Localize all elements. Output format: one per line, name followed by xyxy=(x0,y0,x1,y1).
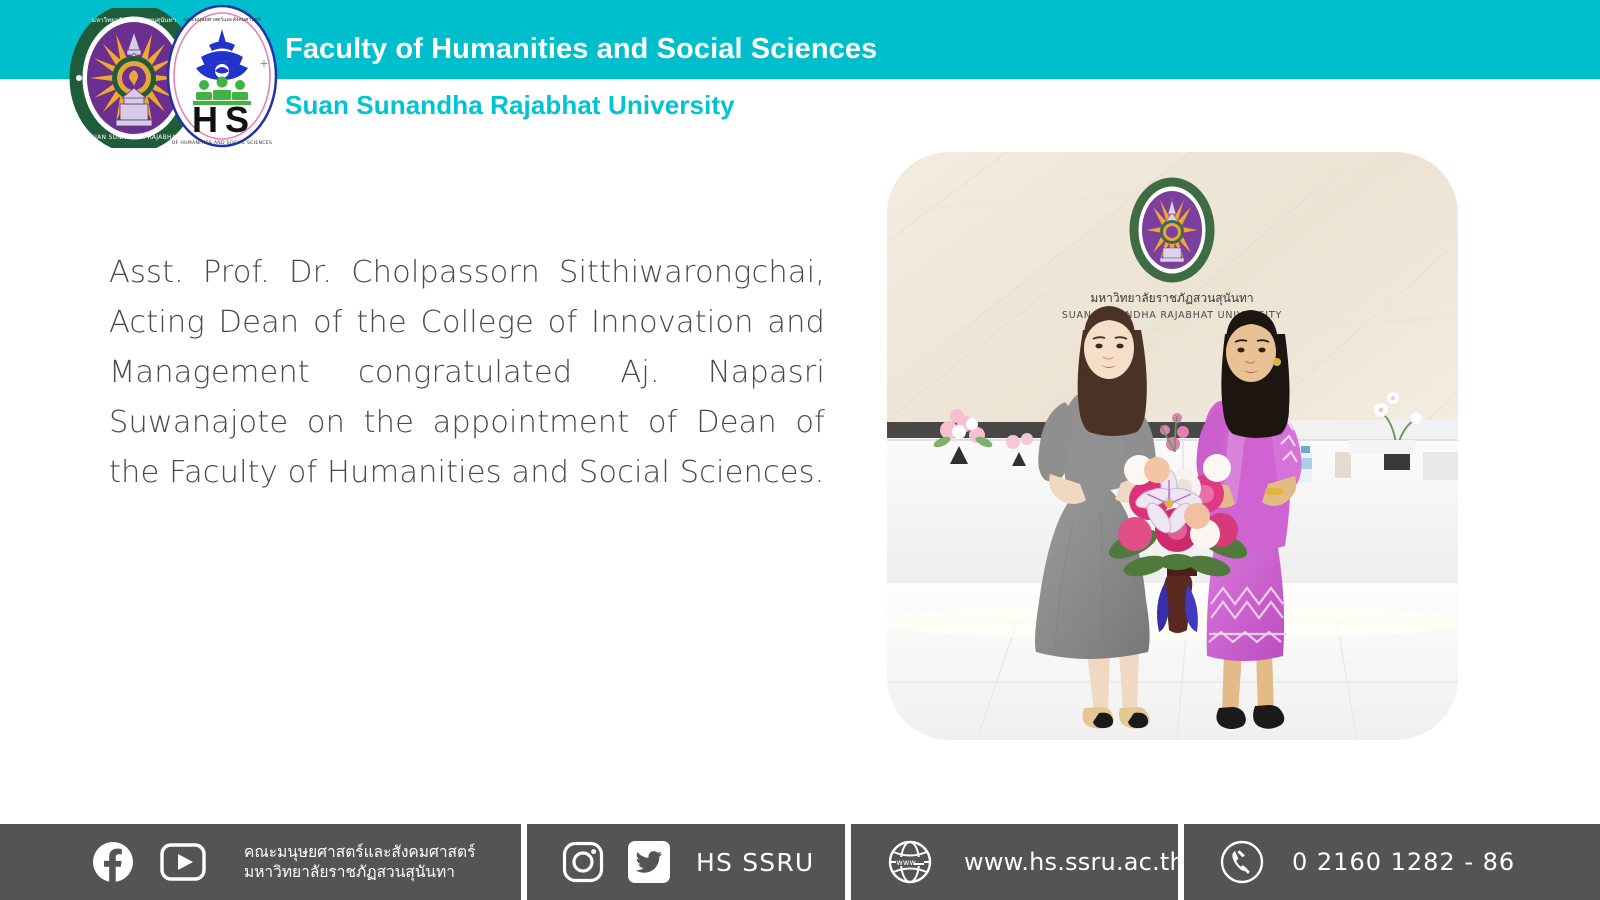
svg-text:www.: www. xyxy=(896,858,917,867)
footer-website-url[interactable]: www.hs.ssru.ac.th xyxy=(964,848,1185,876)
footer-faculty-thai-name: คณะมนุษยศาสตร์และสังคมศาสตร์ มหาวิทยาลัย… xyxy=(244,842,475,882)
announcement-text-content: Asst. Prof. Dr. Cholpassorn Sitthiwarong… xyxy=(109,255,825,490)
footer-segment-social-primary: คณะมนุษยศาสตร์และสังคมศาสตร์ มหาวิทยาลัย… xyxy=(0,824,521,900)
footer-contact-bar: คณะมนุษยศาสตร์และสังคมศาสตร์ มหาวิทยาลัย… xyxy=(0,824,1600,900)
announcement-text: Asst. Prof. Dr. Cholpassorn Sitthiwarong… xyxy=(109,248,825,498)
footer-social-handle: HS SSRU xyxy=(696,848,814,877)
hs-faculty-logo: คณะมนุษยศาสตร์และสังคมศาสตร์ xyxy=(165,5,280,148)
footer-segment-phone: 0 2160 1282 - 86 xyxy=(1184,824,1600,900)
footer-segment-social-secondary: HS SSRU xyxy=(527,824,845,900)
youtube-icon[interactable] xyxy=(160,841,206,883)
twitter-icon[interactable] xyxy=(628,841,670,883)
phone-icon[interactable] xyxy=(1220,840,1264,884)
svg-text:คณะมนุษยศาสตร์และสังคมศาสตร์: คณะมนุษยศาสตร์และสังคมศาสตร์ xyxy=(183,16,261,23)
svg-text:+: + xyxy=(259,57,268,70)
logo-group: มหาวิทยาลัยราชภัฏสวนสุนันทา SUAN SUNANDH… xyxy=(60,5,285,145)
globe-www-icon[interactable]: www. xyxy=(888,840,932,884)
page-subtitle: Suan Sunandha Rajabhat University xyxy=(285,90,735,121)
svg-text:H: H xyxy=(192,99,218,140)
wall-emblem-thai-text: มหาวิทยาลัยราชภัฏสวนสุนันทา xyxy=(1090,291,1253,306)
svg-text:มหาวิทยาลัยราชภัฏสวนสุนันทา: มหาวิทยาลัยราชภัฏสวนสุนันทา xyxy=(92,17,176,24)
instagram-icon[interactable] xyxy=(562,841,604,883)
svg-text:S: S xyxy=(225,99,249,140)
congratulation-ceremony-photo: มหาวิทยาลัยราชภัฏสวนสุนันทา SUAN SUNANDH… xyxy=(887,152,1458,740)
poster-root: Faculty of Humanities and Social Science… xyxy=(0,0,1600,900)
footer-phone-number: 0 2160 1282 - 86 xyxy=(1292,848,1515,876)
page-title: Faculty of Humanities and Social Science… xyxy=(285,33,877,66)
facebook-icon[interactable] xyxy=(92,841,134,883)
svg-text:OF HUMANITIES AND SOCIAL SCIEN: OF HUMANITIES AND SOCIAL SCIENCES xyxy=(172,140,272,146)
footer-segment-website: www. www.hs.ssru.ac.th xyxy=(851,824,1178,900)
